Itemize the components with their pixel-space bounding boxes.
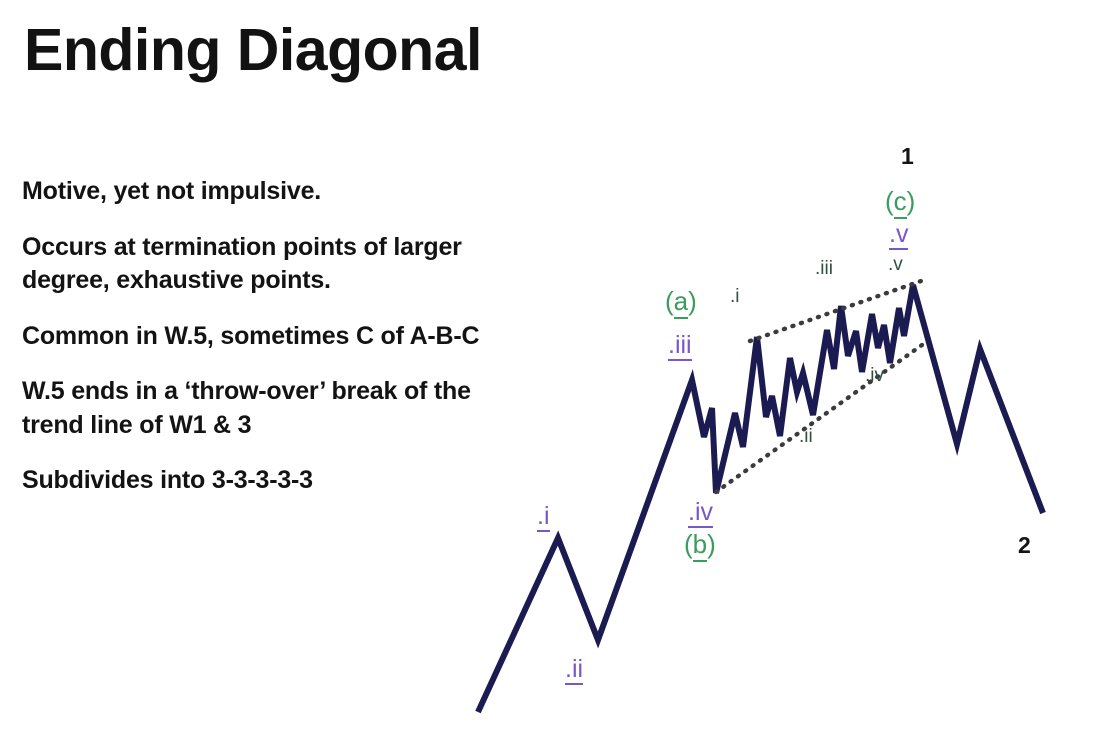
list-item: Occurs at termination points of larger d…: [22, 231, 522, 298]
list-item: W.5 ends in a ‘throw-over’ break of the …: [22, 375, 522, 442]
price-wave-line: [478, 285, 1043, 712]
label-sub-iii: .iii: [815, 259, 833, 278]
list-item: Common in W.5, sometimes C of A-B-C: [22, 320, 522, 354]
label-degree-2: 2: [1018, 534, 1031, 557]
label-wave-c: (c): [885, 188, 915, 214]
bullet-list: Motive, yet not impulsive. Occurs at ter…: [22, 175, 522, 498]
label-wave-iv: .iv: [688, 500, 713, 528]
label-wave-ii: .ii: [565, 657, 583, 685]
label-wave-i: .i: [537, 504, 550, 532]
upper-trend-line: [750, 281, 921, 341]
label-wave-b: (b): [684, 531, 716, 557]
label-sub-iv: .iv: [865, 366, 884, 385]
label-degree-1: 1: [901, 145, 914, 168]
label-wave-v: .v: [889, 222, 908, 250]
slide-canvas: Ending Diagonal Motive, yet not impulsiv…: [0, 0, 1099, 739]
lower-trend-line: [716, 345, 922, 492]
label-sub-ii: .ii: [799, 427, 813, 446]
label-wave-iii: .iii: [668, 333, 692, 361]
label-wave-a: (a): [665, 288, 697, 314]
list-item: Motive, yet not impulsive.: [22, 175, 522, 209]
list-item: Subdivides into 3-3-3-3-3: [22, 464, 522, 498]
page-title: Ending Diagonal: [24, 20, 482, 82]
label-sub-i: .i: [730, 287, 740, 306]
label-sub-v: .v: [888, 255, 903, 274]
